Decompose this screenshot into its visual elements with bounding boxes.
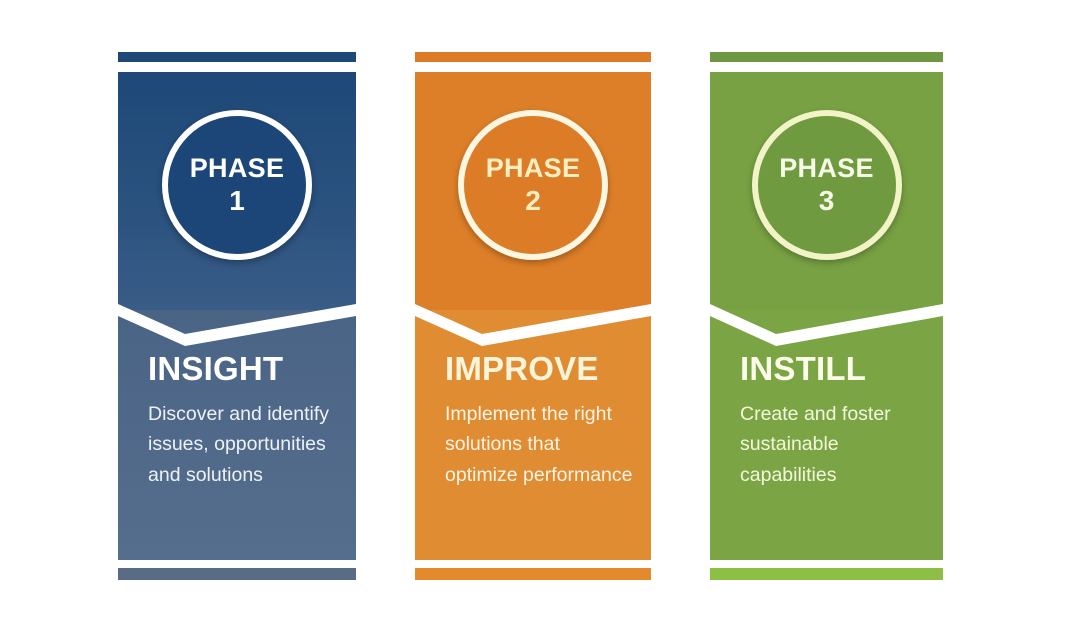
phase-text-block-2: IMPROVE Implement the right solutions th…	[445, 352, 633, 490]
phase-text-block-3: INSTILL Create and foster sustainable ca…	[740, 352, 925, 490]
accent-bar-top-1	[118, 52, 356, 62]
phase-badge-word-3: PHASE	[779, 155, 874, 182]
phase-badge-1[interactable]: PHASE 1	[162, 110, 312, 260]
accent-bar-top-3	[710, 52, 943, 62]
phase-badge-number-1: 1	[229, 187, 245, 215]
phase-title-3: INSTILL	[740, 352, 925, 385]
accent-bar-top-2	[415, 52, 651, 62]
phase-text-block-1: INSIGHT Discover and identify issues, op…	[148, 352, 338, 490]
accent-bar-bottom-1	[118, 568, 356, 580]
phase-panel-2: PHASE 2 IMPROVE Implement the right solu…	[415, 72, 651, 560]
phase-badge-word-2: PHASE	[486, 155, 581, 182]
phase-panel-1: PHASE 1 INSIGHT Discover and identify is…	[118, 72, 356, 560]
phase-column-3[interactable]: PHASE 3 INSTILL Create and foster sustai…	[710, 0, 943, 628]
phase-panel-3: PHASE 3 INSTILL Create and foster sustai…	[710, 72, 943, 560]
phase-description-2: Implement the right solutions that optim…	[445, 399, 633, 490]
phase-column-2[interactable]: PHASE 2 IMPROVE Implement the right solu…	[415, 0, 651, 628]
phase-description-3: Create and foster sustainable capabiliti…	[740, 399, 925, 490]
phase-badge-number-2: 2	[525, 187, 541, 215]
phase-badge-number-3: 3	[819, 187, 835, 215]
phase-badge-2[interactable]: PHASE 2	[458, 110, 608, 260]
phase-column-1[interactable]: PHASE 1 INSIGHT Discover and identify is…	[118, 0, 356, 628]
phase-title-2: IMPROVE	[445, 352, 633, 385]
accent-bar-bottom-2	[415, 568, 651, 580]
phase-diagram: PHASE 1 INSIGHT Discover and identify is…	[0, 0, 1066, 628]
accent-bar-bottom-3	[710, 568, 943, 580]
phase-description-1: Discover and identify issues, opportunit…	[148, 399, 338, 490]
phase-title-1: INSIGHT	[148, 352, 338, 385]
phase-badge-word-1: PHASE	[190, 155, 285, 182]
phase-badge-3[interactable]: PHASE 3	[752, 110, 902, 260]
